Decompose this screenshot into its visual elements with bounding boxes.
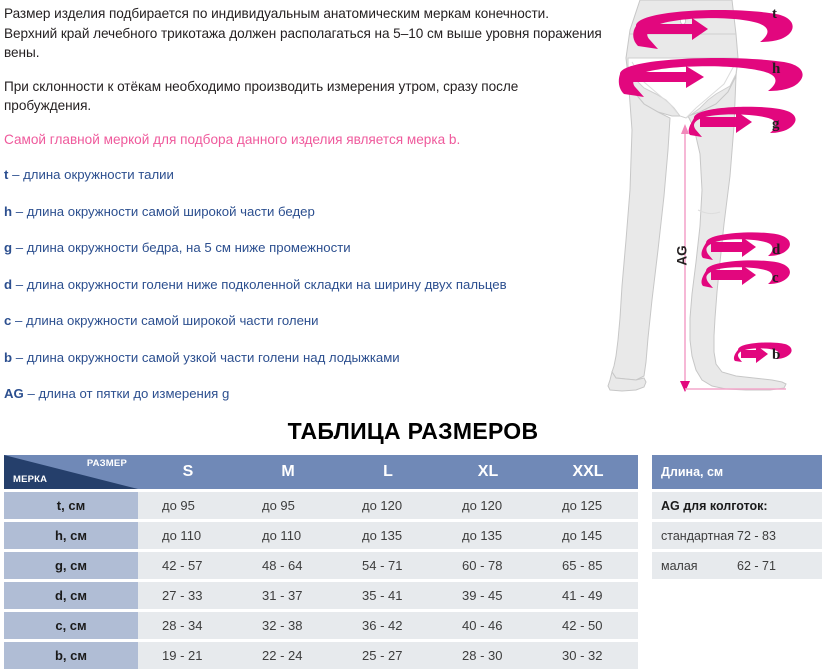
length-header: Длина, см: [652, 455, 822, 489]
cell-g-l: 54 - 71: [338, 552, 438, 579]
corner-col-label: РАЗМЕР: [87, 458, 127, 469]
length-table-body: Длина, см AG для колготок: стандартная 7…: [652, 455, 822, 579]
cell-d-xl: 39 - 45: [438, 582, 538, 609]
length-subheader-row: AG для колготок:: [652, 492, 822, 519]
cell-c-xxl: 42 - 50: [538, 612, 638, 639]
legend-item-t: t – длина окружности талии: [4, 167, 604, 183]
size-table-head: МЕРКА РАЗМЕР S M L XL XXL: [4, 455, 638, 489]
size-table-title: ТАБЛИЦА РАЗМЕРОВ: [0, 418, 826, 445]
cell-d-m: 31 - 37: [238, 582, 338, 609]
row-label-c: c, см: [4, 612, 138, 639]
cell-g-s: 42 - 57: [138, 552, 238, 579]
legend-text-c: – длина окружности самой широкой части г…: [15, 313, 319, 328]
row-label-g: g, см: [4, 552, 138, 579]
cell-h-xxl: до 145: [538, 522, 638, 549]
size-table: МЕРКА РАЗМЕР S M L XL XXL t, см до 95 до…: [4, 455, 638, 669]
arrow-b-ankle: [734, 342, 792, 363]
body-measurement-illustration: t h g d c b AG: [540, 0, 826, 412]
cell-g-m: 48 - 64: [238, 552, 338, 579]
legend-item-b: b – длина окружности самой узкой части г…: [4, 350, 604, 366]
length-name-small: малая: [652, 552, 737, 579]
legend-key-c: c: [4, 313, 11, 328]
legend-key-t: t: [4, 167, 8, 182]
legend-item-c: c – длина окружности самой широкой части…: [4, 313, 604, 329]
row-label-d: d, см: [4, 582, 138, 609]
legend-text-h: – длина окружности самой широкой части б…: [16, 204, 315, 219]
length-value-standard: 72 - 83: [737, 522, 822, 549]
table-row: d, см 27 - 33 31 - 37 35 - 41 39 - 45 41…: [4, 582, 638, 609]
label-h: h: [772, 61, 780, 78]
cell-g-xl: 60 - 78: [438, 552, 538, 579]
size-header-m: M: [238, 455, 338, 489]
size-header-xxl: XXL: [538, 455, 638, 489]
legend-text-ag: – длина от пятки до измерения g: [27, 386, 229, 401]
intro-paragraph-1: Размер изделия подбирается по индивидуал…: [4, 4, 604, 63]
legend-text-t: – длина окружности талии: [12, 167, 174, 182]
length-row-small: малая 62 - 71: [652, 552, 822, 579]
cell-c-xl: 40 - 46: [438, 612, 538, 639]
length-table: Длина, см AG для колготок: стандартная 7…: [652, 455, 822, 579]
cell-t-s: до 95: [138, 492, 238, 519]
cell-t-xl: до 120: [438, 492, 538, 519]
length-name-standard: стандартная: [652, 522, 737, 549]
label-t: t: [772, 6, 777, 23]
length-value-small: 62 - 71: [737, 552, 822, 579]
legend-item-ag: AG – длина от пятки до измерения g: [4, 386, 604, 402]
legend-item-d: d – длина окружности голени ниже подколе…: [4, 277, 604, 293]
size-header-xl: XL: [438, 455, 538, 489]
corner-row-label: МЕРКА: [13, 474, 47, 485]
cell-h-xl: до 135: [438, 522, 538, 549]
size-header-l: L: [338, 455, 438, 489]
cell-t-m: до 95: [238, 492, 338, 519]
cell-c-s: 28 - 34: [138, 612, 238, 639]
legend-key-b: b: [4, 350, 12, 365]
label-d: d: [772, 242, 780, 259]
table-row: c, см 28 - 34 32 - 38 36 - 42 40 - 46 42…: [4, 612, 638, 639]
cell-c-l: 36 - 42: [338, 612, 438, 639]
corner-cell: МЕРКА РАЗМЕР: [4, 455, 138, 489]
cell-d-xxl: 41 - 49: [538, 582, 638, 609]
label-ag: AG: [675, 245, 690, 265]
length-subheader: AG для колготок:: [652, 492, 822, 519]
size-table-body: t, см до 95 до 95 до 120 до 120 до 125 h…: [4, 489, 638, 669]
length-header-row: Длина, см: [652, 455, 822, 489]
row-label-t: t, см: [4, 492, 138, 519]
cell-g-xxl: 65 - 85: [538, 552, 638, 579]
legend-key-d: d: [4, 277, 12, 292]
legend-key-g: g: [4, 240, 12, 255]
legend-text-g: – длина окружности бедра, на 5 см ниже п…: [16, 240, 351, 255]
table-row: g, см 42 - 57 48 - 64 54 - 71 60 - 78 65…: [4, 552, 638, 579]
cell-t-l: до 120: [338, 492, 438, 519]
cell-c-m: 32 - 38: [238, 612, 338, 639]
tables-section: МЕРКА РАЗМЕР S M L XL XXL t, см до 95 до…: [0, 455, 826, 655]
size-header-s: S: [138, 455, 238, 489]
intro-section: Размер изделия подбирается по индивидуал…: [0, 0, 826, 412]
cell-h-l: до 135: [338, 522, 438, 549]
label-b: b: [772, 347, 780, 364]
cell-h-s: до 110: [138, 522, 238, 549]
row-label-h: h, см: [4, 522, 138, 549]
size-table-header-row: МЕРКА РАЗМЕР S M L XL XXL: [4, 455, 638, 489]
text-column: Размер изделия подбирается по индивидуал…: [4, 4, 604, 423]
female-body-diagram-svg: [540, 0, 826, 412]
measurement-legend-list: t – длина окружности талии h – длина окр…: [4, 167, 604, 402]
table-row: h, см до 110 до 110 до 135 до 135 до 145: [4, 522, 638, 549]
cell-d-s: 27 - 33: [138, 582, 238, 609]
size-guide-page: Размер изделия подбирается по индивидуал…: [0, 0, 826, 656]
legend-key-ag: AG: [4, 386, 24, 401]
legend-key-h: h: [4, 204, 12, 219]
length-row-standard: стандартная 72 - 83: [652, 522, 822, 549]
label-c: c: [772, 270, 779, 287]
intro-paragraph-2: При склонности к отёкам необходимо произ…: [4, 77, 604, 116]
highlight-note: Самой главной меркой для подбора данного…: [4, 130, 604, 150]
legend-item-h: h – длина окружности самой широкой части…: [4, 204, 604, 220]
table-row: t, см до 95 до 95 до 120 до 120 до 125: [4, 492, 638, 519]
label-g: g: [772, 116, 780, 133]
legend-text-b: – длина окружности самой узкой части гол…: [16, 350, 400, 365]
legend-text-d: – длина окружности голени ниже подколенн…: [16, 277, 507, 292]
legend-item-g: g – длина окружности бедра, на 5 см ниже…: [4, 240, 604, 256]
cell-t-xxl: до 125: [538, 492, 638, 519]
cell-h-m: до 110: [238, 522, 338, 549]
cell-d-l: 35 - 41: [338, 582, 438, 609]
